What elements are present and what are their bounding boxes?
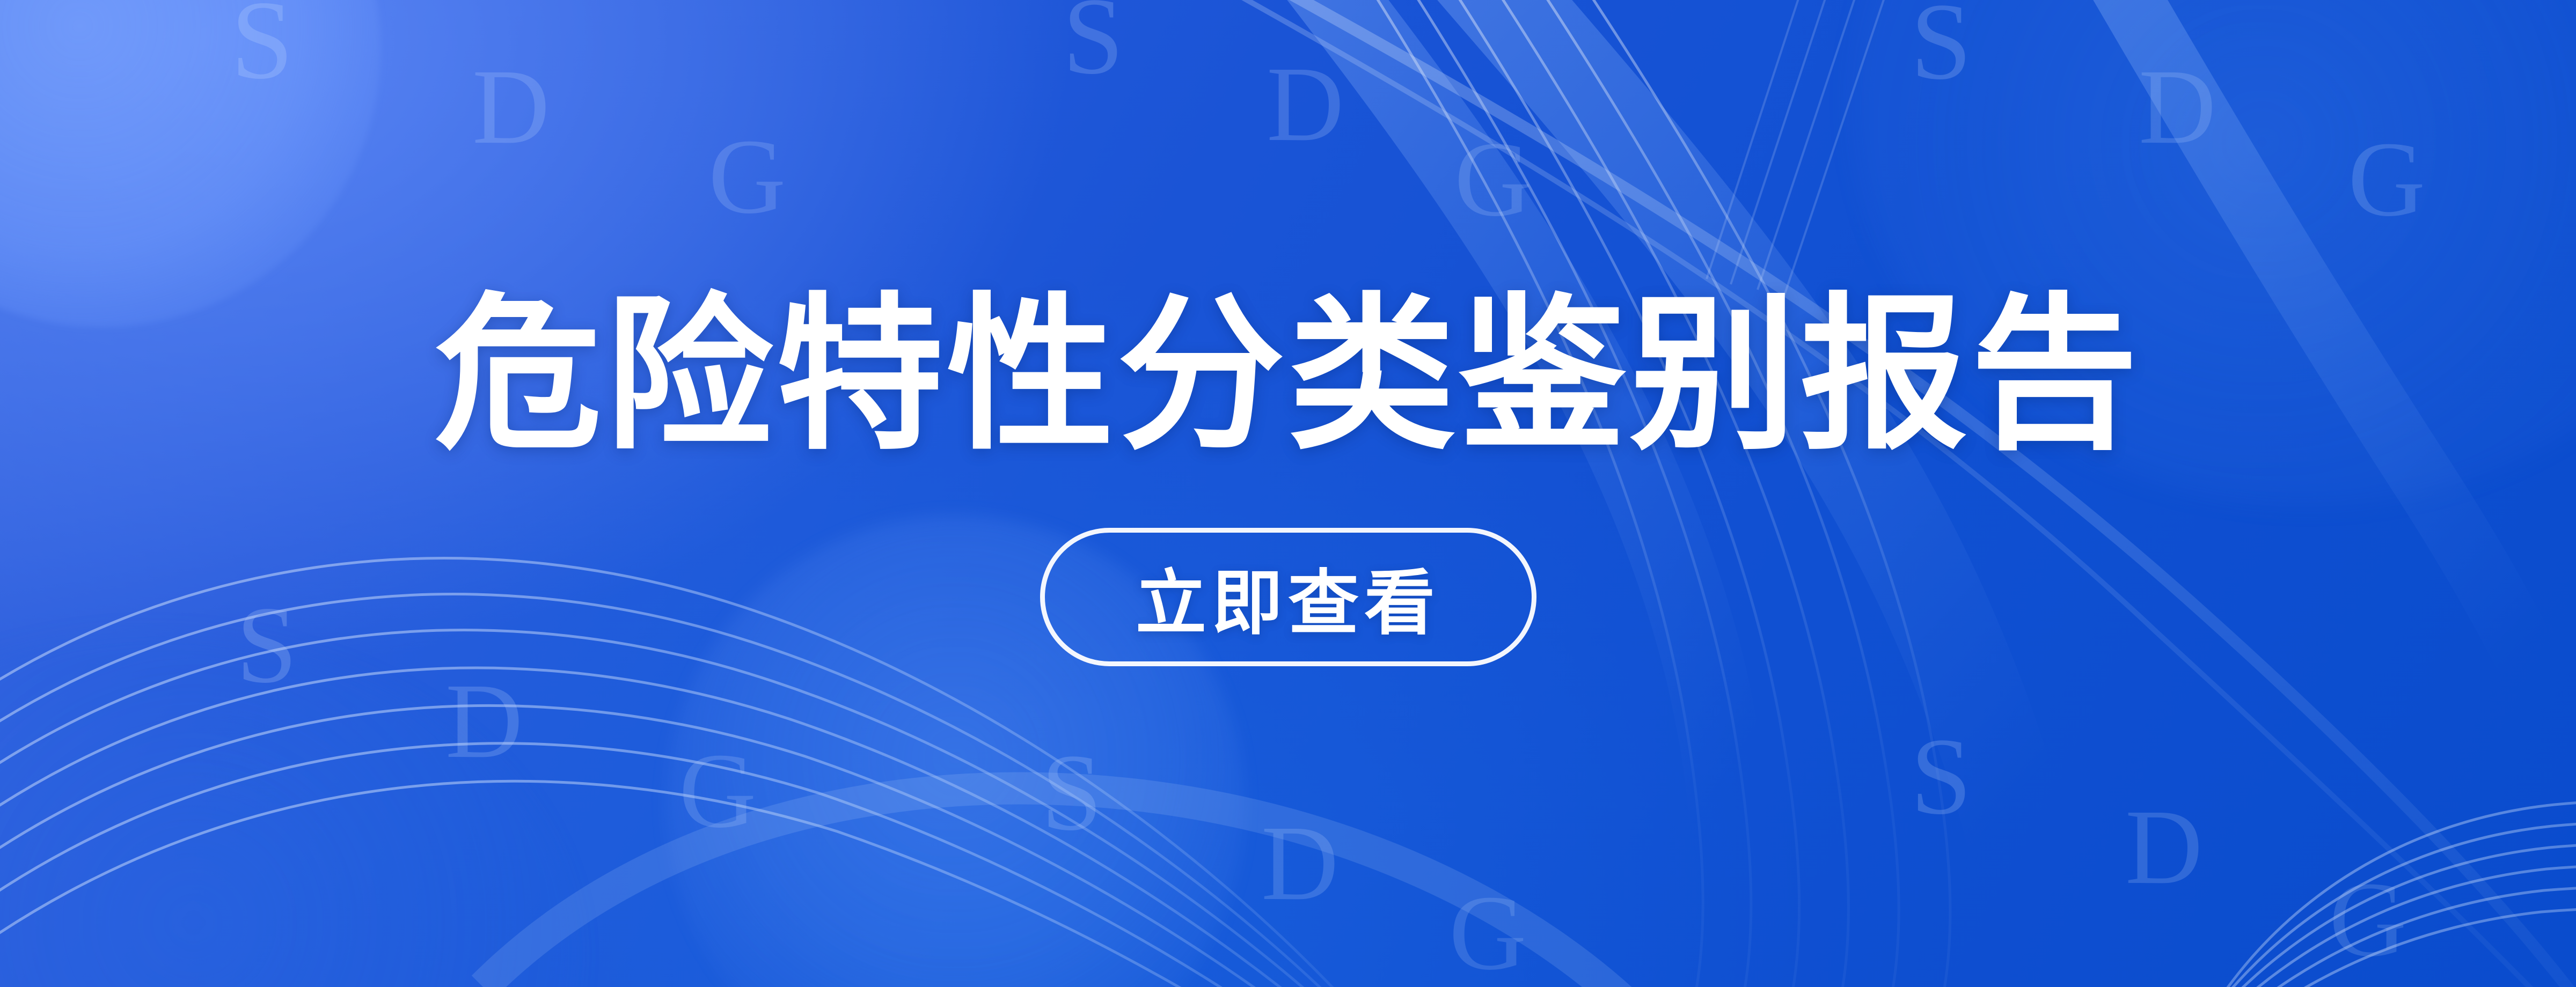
- banner-content: 危险特性分类鉴别报告 立即查看: [0, 0, 2576, 987]
- banner-title: 危险特性分类鉴别报告: [435, 285, 2141, 466]
- view-now-button-label: 立即查看: [1136, 546, 1440, 649]
- promo-banner: SDGSDGSDGSDGSDGSDG 危险特性分类鉴别报告 立即查看: [0, 0, 2576, 987]
- view-now-button[interactable]: 立即查看: [1040, 528, 1536, 666]
